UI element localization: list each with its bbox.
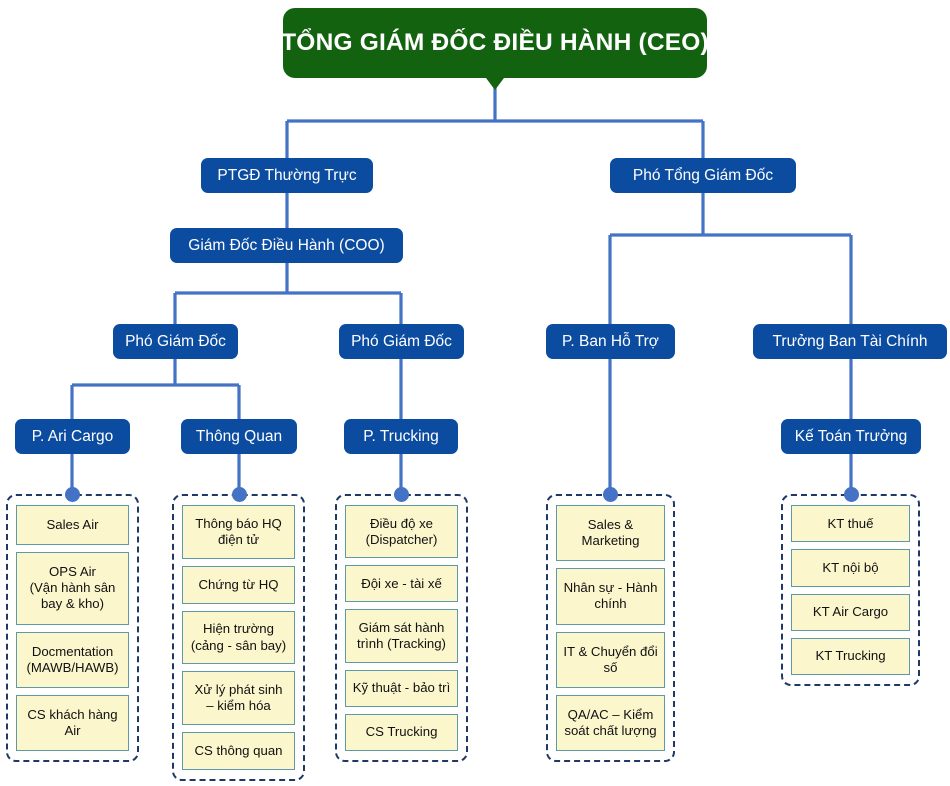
leaf-item[interactable]: Thông báo HQ điện tử [182, 505, 295, 559]
node-p-trucking[interactable]: P. Trucking [344, 419, 458, 454]
node-truong-ban-tai-chinh-label: Trưởng Ban Tài Chính [773, 333, 928, 351]
connector-dot-thong-quan [232, 487, 247, 502]
group-thong-quan: Thông báo HQ điện tử Chứng từ HQ Hiện tr… [172, 494, 305, 781]
node-p-ari-cargo-label: P. Ari Cargo [32, 428, 114, 446]
leaf-item[interactable]: KT Trucking [791, 638, 910, 675]
connector-dot-ho-tro [603, 487, 618, 502]
node-pho-giam-doc-1[interactable]: Phó Giám Đốc [113, 324, 238, 359]
node-coo-label: Giám Đốc Điều Hành (COO) [188, 237, 384, 255]
node-pho-tong-giam-doc[interactable]: Phó Tổng Giám Đốc [610, 158, 796, 193]
leaf-item[interactable]: Đội xe - tài xế [345, 565, 458, 602]
leaf-item[interactable]: Điều độ xe (Dispatcher) [345, 505, 458, 558]
node-pho-giam-doc-1-label: Phó Giám Đốc [125, 333, 226, 351]
leaf-item[interactable]: Docmentation (MAWB/HAWB) [16, 632, 129, 688]
leaf-item[interactable]: OPS Air (Vận hành sân bay & kho) [16, 552, 129, 624]
connector-dot-ari-cargo [65, 487, 80, 502]
node-p-ban-ho-tro-label: P. Ban Hỗ Trợ [562, 333, 659, 351]
ceo-arrow-head [486, 78, 504, 90]
node-p-ban-ho-tro[interactable]: P. Ban Hỗ Trợ [546, 324, 675, 359]
leaf-item[interactable]: KT nội bộ [791, 549, 910, 586]
node-ptgd-thuong-truc[interactable]: PTGĐ Thường Trực [201, 158, 373, 193]
leaf-item[interactable]: Chứng từ HQ [182, 566, 295, 604]
node-pho-giam-doc-2-label: Phó Giám Đốc [351, 333, 452, 351]
node-thong-quan[interactable]: Thông Quan [181, 419, 297, 454]
node-coo[interactable]: Giám Đốc Điều Hành (COO) [170, 228, 403, 263]
group-trucking: Điều độ xe (Dispatcher) Đội xe - tài xế … [335, 494, 468, 762]
leaf-item[interactable]: CS Trucking [345, 714, 458, 751]
node-truong-ban-tai-chinh[interactable]: Trưởng Ban Tài Chính [753, 324, 947, 359]
node-p-trucking-label: P. Trucking [363, 428, 439, 446]
group-ho-tro: Sales & Marketing Nhân sự - Hành chính I… [546, 494, 675, 762]
node-ke-toan-truong[interactable]: Kế Toán Trưởng [781, 419, 921, 454]
leaf-item[interactable]: KT Air Cargo [791, 594, 910, 631]
leaf-item[interactable]: Kỹ thuật - bảo trì [345, 670, 458, 707]
leaf-item[interactable]: Sales & Marketing [556, 505, 665, 561]
leaf-item[interactable]: Sales Air [16, 505, 129, 545]
node-ptgd-thuong-truc-label: PTGĐ Thường Trực [217, 167, 356, 185]
leaf-item[interactable]: Nhân sự - Hành chính [556, 568, 665, 624]
node-pho-giam-doc-2[interactable]: Phó Giám Đốc [339, 324, 464, 359]
leaf-item[interactable]: Giám sát hành trình (Tracking) [345, 609, 458, 662]
node-pho-tong-giam-doc-label: Phó Tổng Giám Đốc [633, 167, 773, 185]
connector-dot-tai-chinh [844, 487, 859, 502]
leaf-item[interactable]: KT thuế [791, 505, 910, 542]
leaf-item[interactable]: QA/AC – Kiểm soát chất lượng [556, 695, 665, 751]
leaf-item[interactable]: Xử lý phát sinh – kiểm hóa [182, 671, 295, 725]
leaf-item[interactable]: CS khách hàng Air [16, 695, 129, 751]
connector-dot-trucking [394, 487, 409, 502]
node-ke-toan-truong-label: Kế Toán Trưởng [795, 428, 907, 446]
node-ceo-label: TỔNG GIÁM ĐỐC ĐIỀU HÀNH (CEO) [281, 29, 709, 57]
leaf-item[interactable]: Hiện trường (cảng - sân bay) [182, 611, 295, 665]
node-thong-quan-label: Thông Quan [196, 428, 282, 446]
group-ari-cargo: Sales Air OPS Air (Vận hành sân bay & kh… [6, 494, 139, 762]
leaf-item[interactable]: CS thông quan [182, 732, 295, 770]
leaf-item[interactable]: IT & Chuyển đổi số [556, 632, 665, 688]
group-tai-chinh: KT thuế KT nội bộ KT Air Cargo KT Trucki… [781, 494, 920, 686]
org-chart-canvas: TỔNG GIÁM ĐỐC ĐIỀU HÀNH (CEO) PTGĐ Thườn… [0, 0, 950, 786]
node-p-ari-cargo[interactable]: P. Ari Cargo [15, 419, 130, 454]
node-ceo[interactable]: TỔNG GIÁM ĐỐC ĐIỀU HÀNH (CEO) [283, 8, 707, 78]
